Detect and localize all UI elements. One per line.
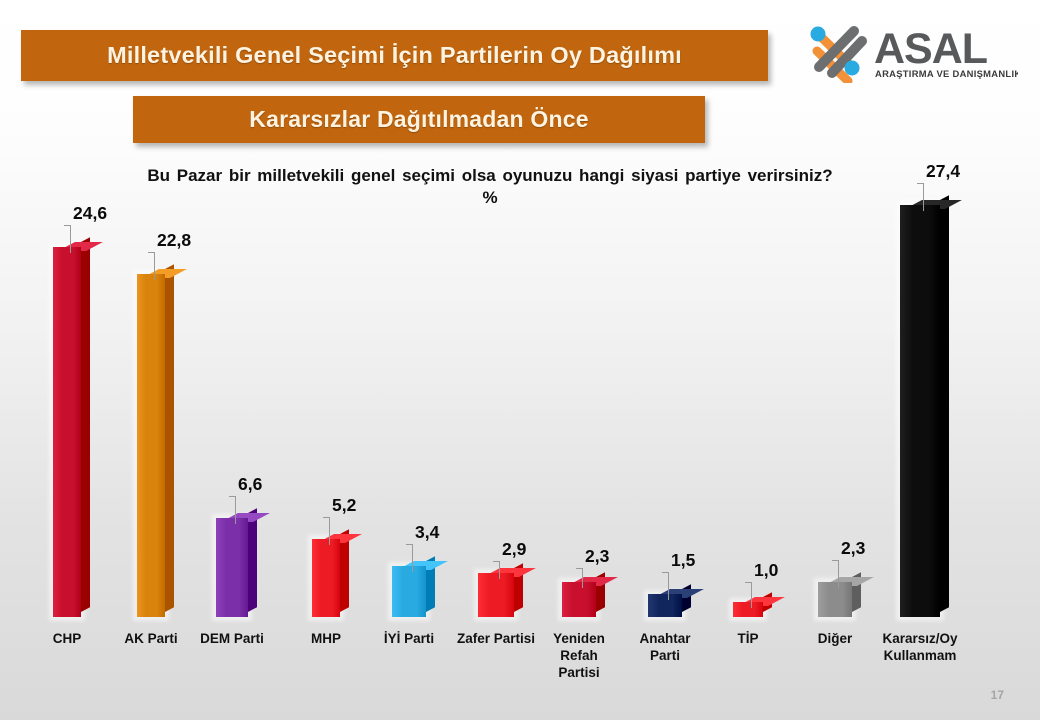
leader-line-5 <box>412 544 413 572</box>
leader-line-8 <box>668 572 669 600</box>
leader-elbow-8 <box>662 572 669 573</box>
bar-side-face <box>165 264 174 612</box>
leader-elbow-10 <box>832 560 839 561</box>
bar-3[interactable] <box>216 518 248 617</box>
bar-front-face <box>312 539 340 617</box>
bar-chart-plot: 24,6CHP22,8AK Parti6,6DEM Parti5,2MHP3,4… <box>0 0 1040 720</box>
leader-line-2 <box>154 252 155 280</box>
bar-front-face <box>562 582 596 617</box>
bar-front-face <box>137 274 165 617</box>
bar-front-face <box>648 594 682 617</box>
leader-elbow-6 <box>493 561 500 562</box>
leader-line-9 <box>751 582 752 608</box>
bar-1[interactable] <box>53 247 81 617</box>
leader-line-1 <box>70 225 71 253</box>
bar-11[interactable] <box>900 205 940 617</box>
leader-elbow-2 <box>148 252 155 253</box>
bar-front-face <box>53 247 81 617</box>
leader-line-3 <box>235 496 236 524</box>
value-label-7: 2,3 <box>585 546 609 567</box>
value-label-9: 1,0 <box>754 560 778 581</box>
value-label-10: 2,3 <box>841 538 865 559</box>
leader-elbow-3 <box>229 496 236 497</box>
bar-8[interactable] <box>648 594 682 617</box>
bar-5[interactable] <box>392 566 426 617</box>
leader-elbow-7 <box>576 568 583 569</box>
category-label-11: Kararsız/Oy Kullanmam <box>865 631 975 665</box>
bar-front-face <box>216 518 248 617</box>
leader-elbow-11 <box>917 183 924 184</box>
leader-elbow-9 <box>745 582 752 583</box>
bar-front-face <box>733 602 763 617</box>
leader-elbow-1 <box>64 225 71 226</box>
value-label-4: 5,2 <box>332 495 356 516</box>
leader-line-11 <box>923 183 924 211</box>
bar-10[interactable] <box>818 582 852 617</box>
bar-9[interactable] <box>733 602 763 617</box>
leader-line-6 <box>499 561 500 579</box>
value-label-11: 27,4 <box>926 161 960 182</box>
leader-line-10 <box>838 560 839 588</box>
bar-4[interactable] <box>312 539 340 617</box>
bar-side-face <box>248 508 257 612</box>
bar-side-face <box>81 237 90 612</box>
leader-elbow-4 <box>323 517 330 518</box>
leader-elbow-5 <box>406 544 413 545</box>
slide-canvas: Milletvekili Genel Seçimi İçin Partileri… <box>0 0 1040 720</box>
bar-side-face <box>940 195 949 612</box>
bar-front-face <box>392 566 426 617</box>
value-label-6: 2,9 <box>502 539 526 560</box>
bar-front-face <box>818 582 852 617</box>
page-number: 17 <box>991 688 1004 702</box>
bar-front-face <box>478 573 514 617</box>
value-label-5: 3,4 <box>415 522 439 543</box>
bar-6[interactable] <box>478 573 514 617</box>
value-label-8: 1,5 <box>671 550 695 571</box>
value-label-3: 6,6 <box>238 474 262 495</box>
leader-line-7 <box>582 568 583 588</box>
value-label-1: 24,6 <box>73 203 107 224</box>
bar-front-face <box>900 205 940 617</box>
leader-line-4 <box>329 517 330 545</box>
bar-7[interactable] <box>562 582 596 617</box>
bar-2[interactable] <box>137 274 165 617</box>
value-label-2: 22,8 <box>157 230 191 251</box>
